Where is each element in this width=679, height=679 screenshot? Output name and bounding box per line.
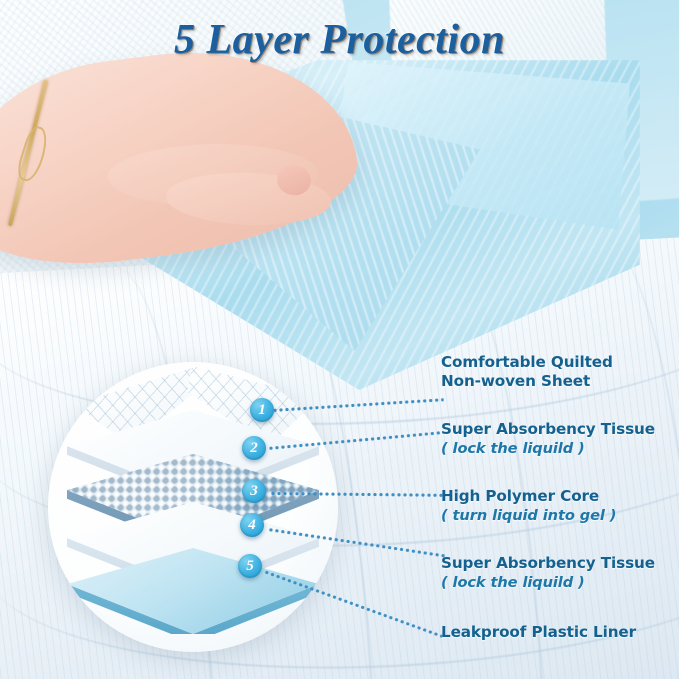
- layer-face: [67, 548, 319, 634]
- layer-label-5-title: Leakproof Plastic Liner: [441, 623, 679, 642]
- layer-label-3-title: High Polymer Core: [441, 487, 679, 506]
- layer-label-2: Super Absorbency Tissue ( lock the liqui…: [441, 420, 679, 458]
- layer-label-4-sub: ( lock the liquild ): [441, 573, 679, 592]
- layer-label-4-title: Super Absorbency Tissue: [441, 554, 679, 573]
- layer-badge-2[interactable]: 2: [242, 436, 266, 460]
- layer-cutaway-circle: [48, 362, 338, 652]
- infographic-stage: 5 Layer Protection: [0, 0, 679, 679]
- layer-label-1-title-line2: Non-woven Sheet: [441, 372, 679, 391]
- layer-badge-4[interactable]: 4: [240, 513, 264, 537]
- layer-label-1-title: Comfortable Quilted: [441, 353, 679, 372]
- layer-label-3: High Polymer Core ( turn liquid into gel…: [441, 487, 679, 525]
- layer-badge-5[interactable]: 5: [238, 554, 262, 578]
- layer-label-5: Leakproof Plastic Liner: [441, 623, 679, 642]
- layer-label-2-sub: ( lock the liquild ): [441, 439, 679, 458]
- layer-label-1: Comfortable Quilted Non-woven Sheet: [441, 353, 679, 391]
- layer-label-3-sub: ( turn liquid into gel ): [441, 506, 679, 525]
- layer-badge-1[interactable]: 1: [250, 398, 274, 422]
- layer-label-list: Comfortable Quilted Non-woven Sheet Supe…: [441, 0, 679, 679]
- layer-label-4: Super Absorbency Tissue ( lock the liqui…: [441, 554, 679, 592]
- layer-label-2-title: Super Absorbency Tissue: [441, 420, 679, 439]
- layer-badge-3[interactable]: 3: [242, 479, 266, 503]
- layer-5-plastic-liner: [67, 548, 319, 634]
